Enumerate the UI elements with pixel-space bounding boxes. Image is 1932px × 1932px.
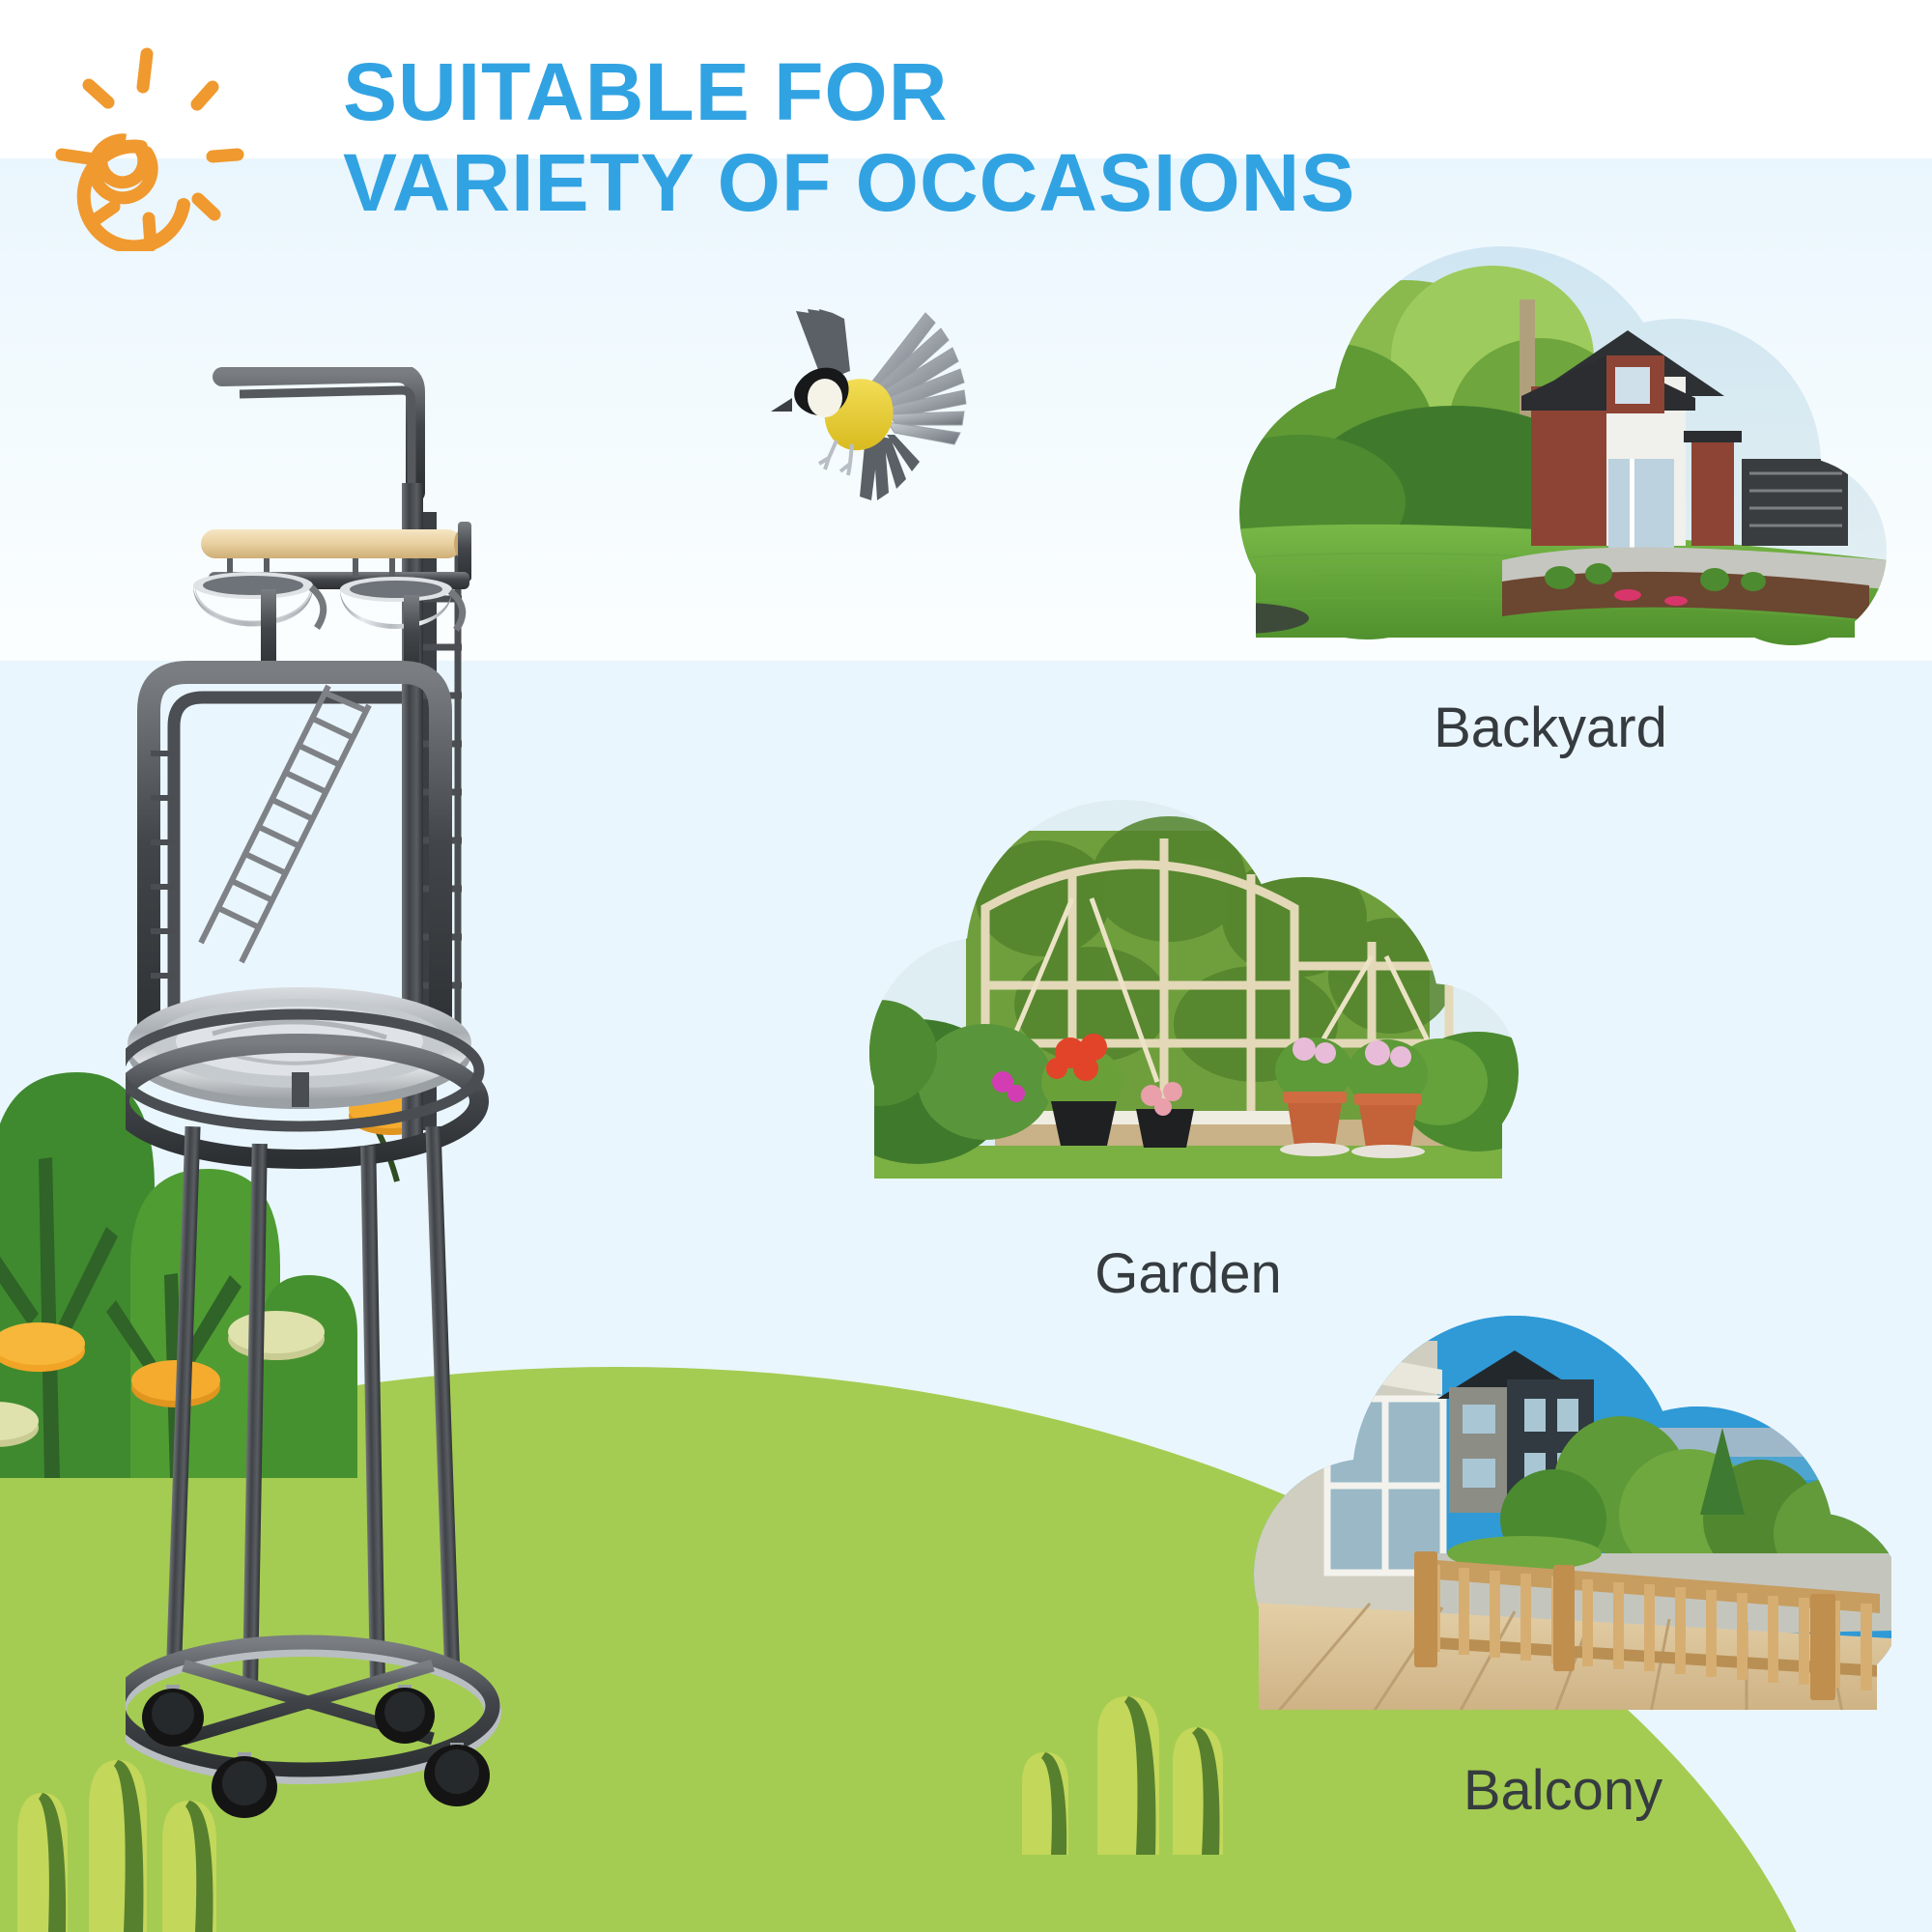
occasion-label-garden: Garden: [850, 1241, 1526, 1306]
product-rolling-bird-perch-stand[interactable]: [126, 367, 782, 1913]
stainless-feeding-bowl-left: [193, 572, 324, 628]
decor-grass-right: [985, 1671, 1275, 1932]
four-legs: [166, 1126, 460, 1683]
climbing-ladder: [201, 686, 369, 962]
occasion-photo-balcony[interactable]: [1235, 1312, 1891, 1718]
occasion-photo-garden[interactable]: [850, 763, 1526, 1188]
page-title: SUITABLE FOR VARIETY OF OCCASIONS: [343, 46, 1521, 228]
stainless-feeding-bowl-right: [340, 577, 463, 630]
occasion-label-balcony: Balcony: [1235, 1758, 1891, 1823]
occasion-label-backyard: Backyard: [1212, 696, 1889, 760]
occasion-photo-backyard[interactable]: [1212, 241, 1889, 647]
sun-spiral-icon: [39, 39, 251, 251]
promo-image: SUITABLE FOR VARIETY OF OCCASIONS: [0, 0, 1932, 1932]
